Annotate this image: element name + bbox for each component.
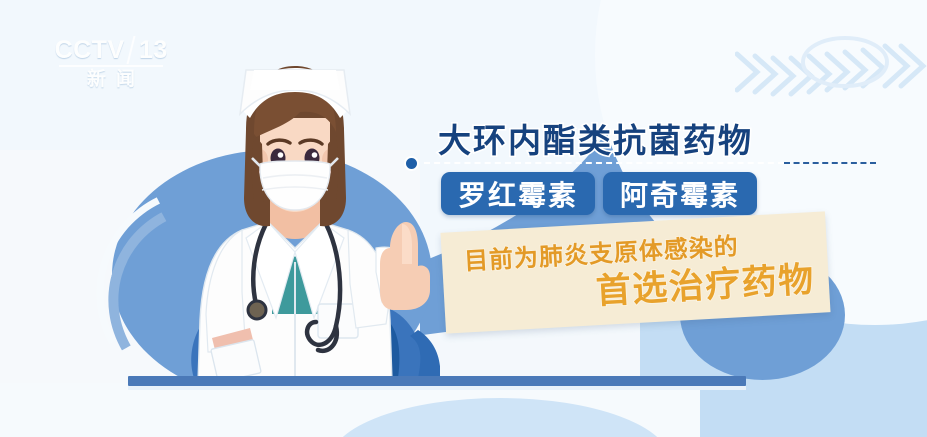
- desk-edge-bar: [128, 376, 746, 386]
- dashed-line-left: [424, 162, 784, 164]
- news-graphic-canvas: CCTV 13 新闻: [0, 0, 927, 437]
- nurse-doctor-character: [150, 52, 440, 382]
- dashed-line-right: [784, 162, 876, 164]
- drug-pill-azithromycin[interactable]: 阿奇霉素: [603, 172, 757, 215]
- banner-line-2: 首选治疗药物: [594, 251, 816, 314]
- chevron-arrow-pattern-icon: [735, 28, 927, 106]
- drug-pill-roxithromycin[interactable]: 罗红霉素: [441, 172, 595, 215]
- connector-line: [404, 154, 874, 172]
- pointing-hand-icon: [380, 222, 430, 310]
- drug-pill-group: 罗红霉素 阿奇霉素: [441, 172, 757, 215]
- stethoscope-chestpiece-icon: [248, 301, 266, 319]
- treatment-banner: 目前为肺炎支原体感染的 首选治疗药物: [440, 211, 830, 333]
- bullet-dot-icon: [404, 156, 419, 171]
- desk-edge-shadow: [128, 386, 746, 390]
